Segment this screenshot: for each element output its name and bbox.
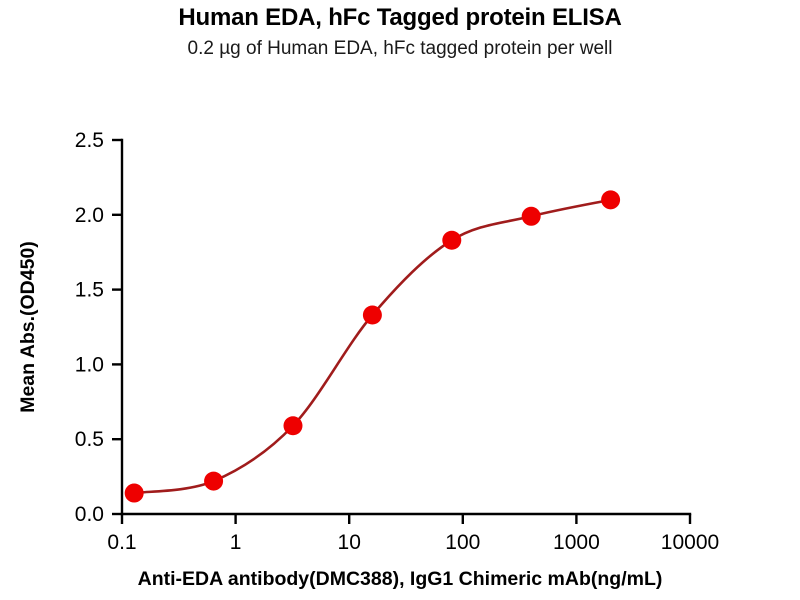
elisa-chart-figure: Human EDA, hFc Tagged protein ELISA 0.2 … (0, 0, 800, 600)
fit-curve (134, 200, 610, 493)
x-tick-label: 10000 (661, 531, 719, 554)
data-point-marker (522, 207, 541, 226)
data-point-marker (363, 306, 382, 325)
data-point-marker (601, 190, 620, 209)
y-tick-label: 2.5 (75, 129, 104, 152)
x-tick-label: 1 (230, 531, 242, 554)
data-point-marker (204, 472, 223, 491)
y-tick-label: 0.0 (75, 503, 104, 526)
data-points-group (125, 190, 620, 502)
fit-curve-group (134, 200, 610, 493)
y-tick-label: 0.5 (75, 428, 104, 451)
x-tick-label: 10 (338, 531, 361, 554)
data-point-marker (442, 231, 461, 250)
y-tick-label: 2.0 (75, 204, 104, 227)
x-tick-group: 0.1110100100010000 (107, 514, 719, 554)
data-point-marker (283, 416, 302, 435)
x-tick-label: 100 (445, 531, 480, 554)
y-tick-label: 1.0 (75, 353, 104, 376)
x-tick-label: 0.1 (107, 531, 136, 554)
x-tick-label: 1000 (553, 531, 600, 554)
y-tick-group: 0.00.51.01.52.02.5 (75, 129, 122, 526)
y-tick-label: 1.5 (75, 279, 104, 302)
x-axis-title: Anti-EDA antibody(DMC388), IgG1 Chimeric… (138, 568, 663, 590)
plot-area: 0.1110100100010000 0.00.51.01.52.02.5 An… (0, 0, 800, 600)
y-axis-title: Mean Abs.(OD450) (17, 241, 39, 413)
data-point-marker (125, 484, 144, 503)
